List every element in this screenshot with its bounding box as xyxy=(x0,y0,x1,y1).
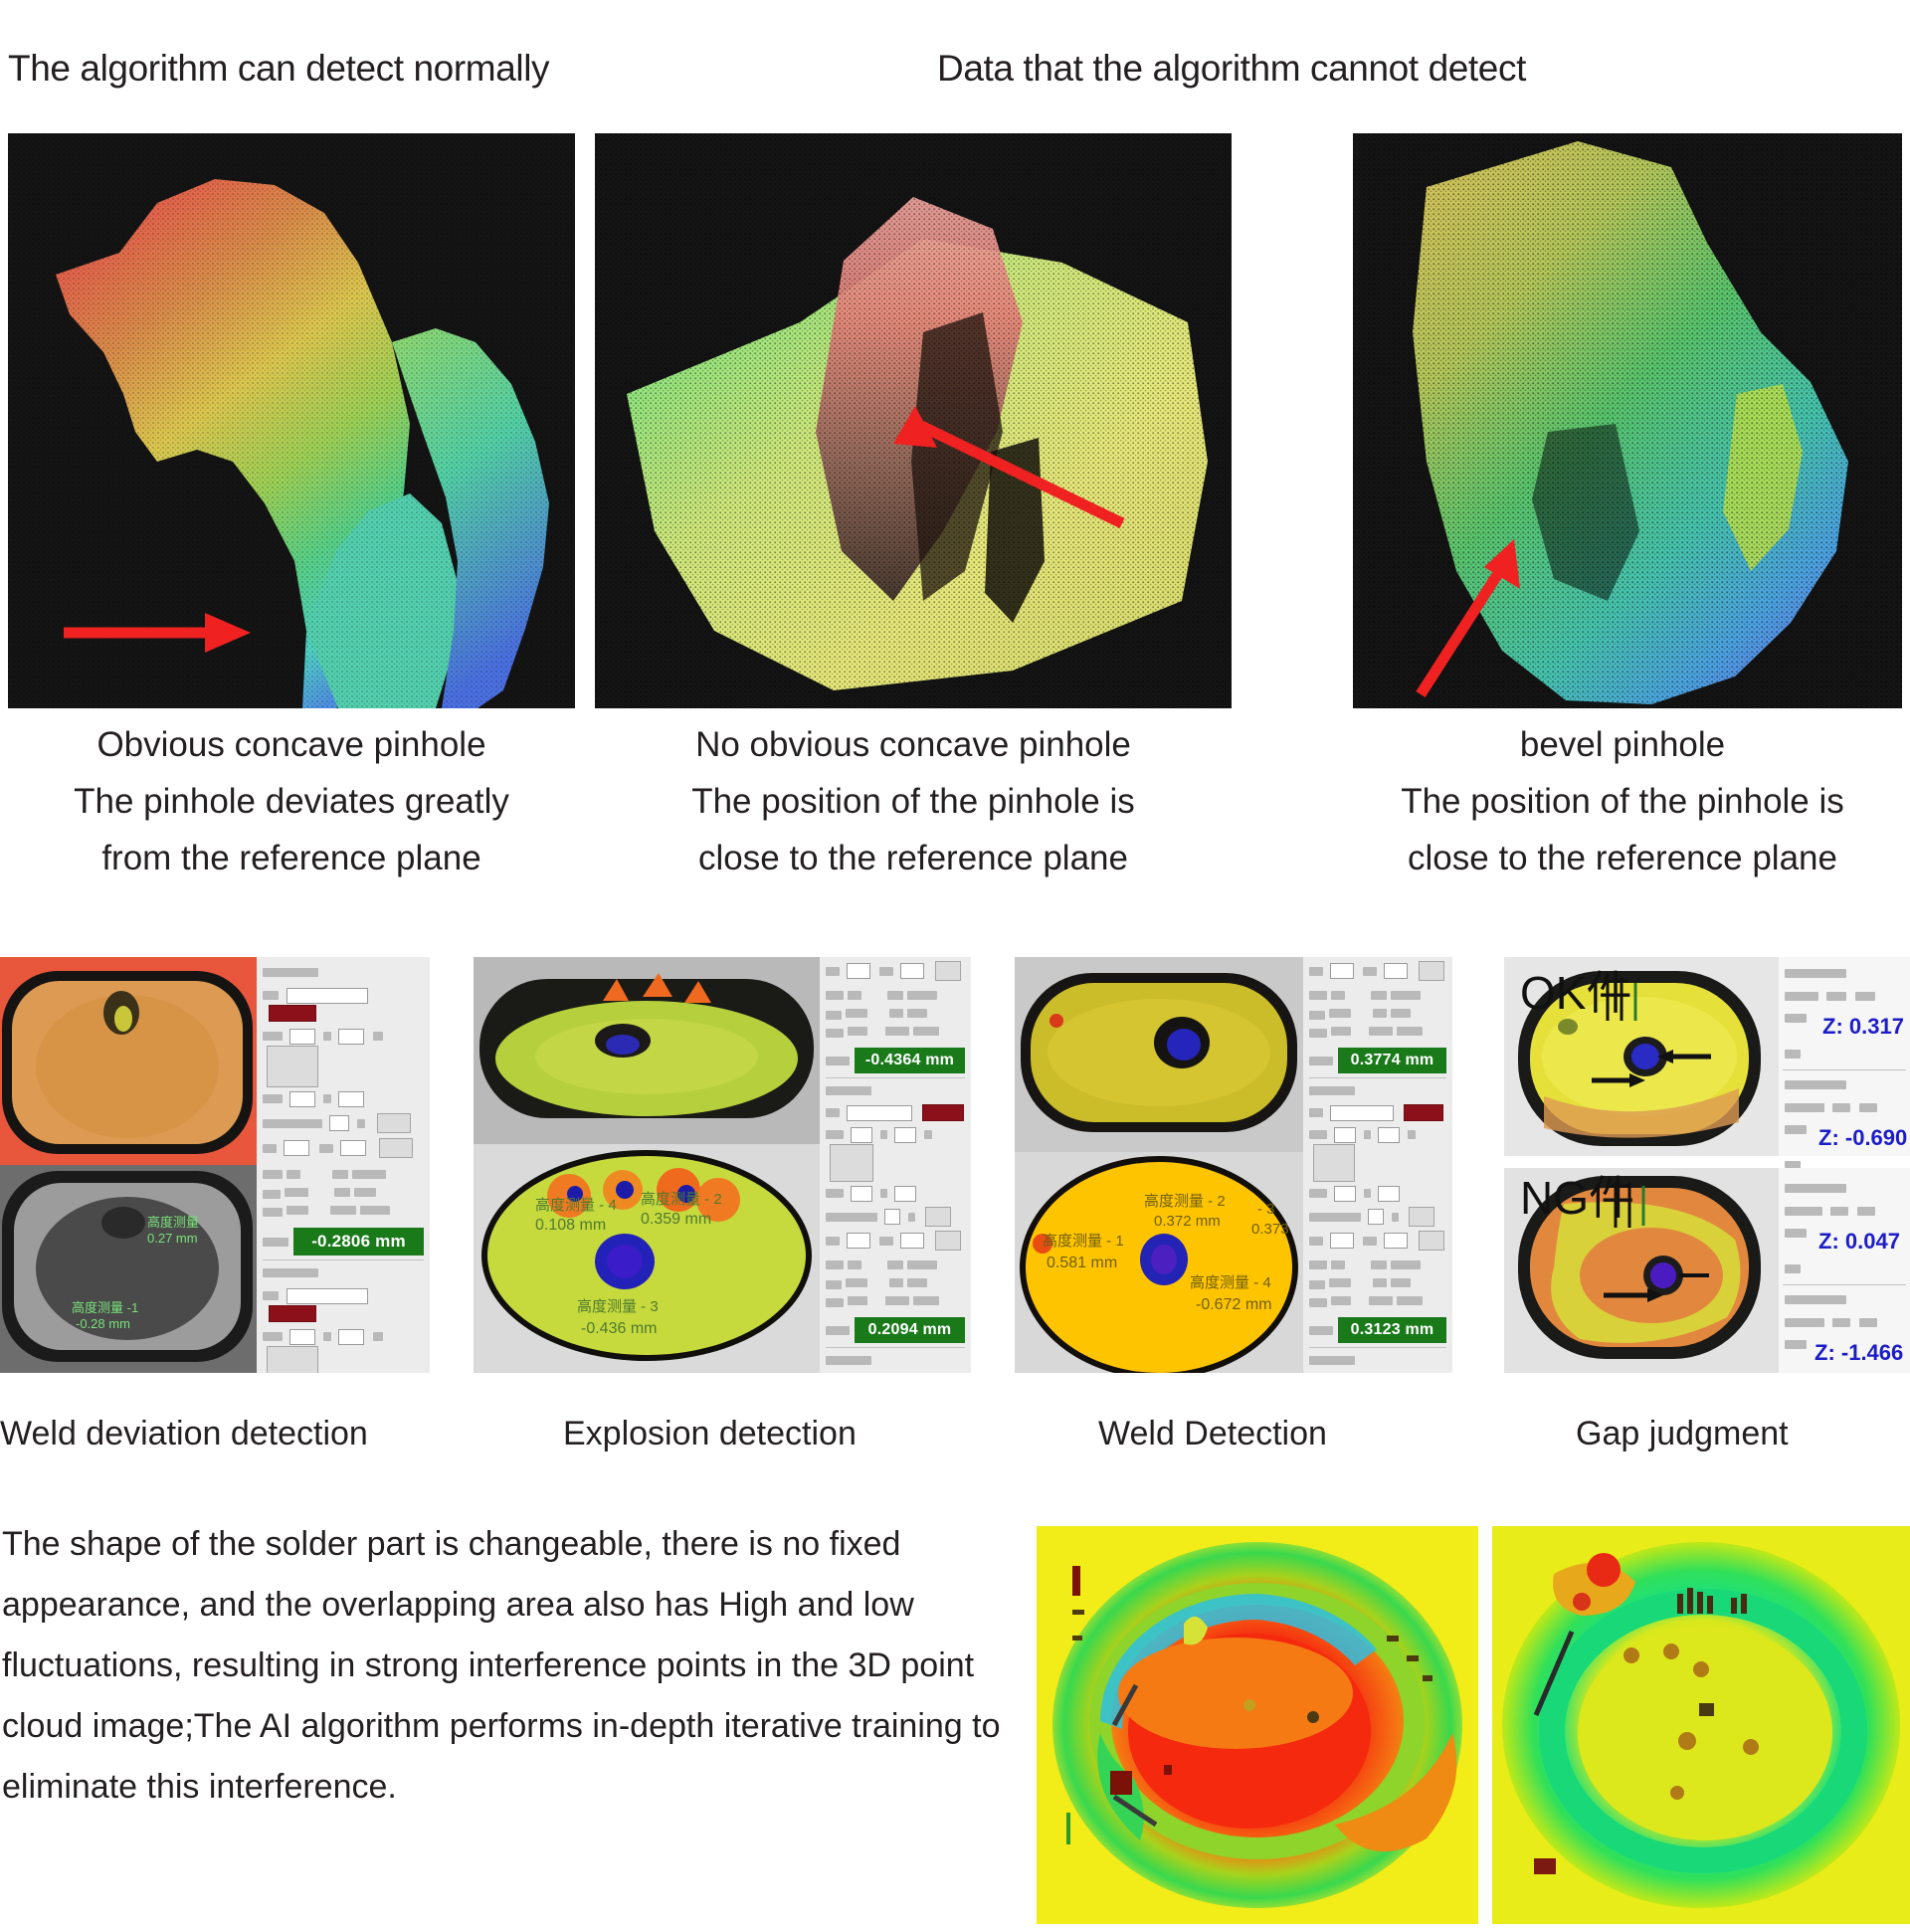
measurement-readout: -0.4364 mm xyxy=(855,1048,965,1073)
ui-stats-block xyxy=(1309,987,1446,1041)
ui-coord-row-1 xyxy=(263,1028,424,1087)
measurement-readout: -0.2806 mm xyxy=(293,1228,424,1256)
ui-percent-row xyxy=(1309,1207,1446,1227)
header-left: The algorithm can detect normally xyxy=(8,48,549,90)
ui-name-field-row xyxy=(1309,1104,1446,1122)
y2-input[interactable] xyxy=(1378,1186,1400,1202)
ui-threshold-row xyxy=(826,1231,965,1251)
y1-input[interactable] xyxy=(1378,1127,1400,1143)
pointcloud-no-obvious-concave-pinhole xyxy=(595,133,1232,708)
svg-text:高度测量: 高度测量 xyxy=(147,1215,199,1230)
bottom-cloud-render-1 xyxy=(1037,1526,1478,1924)
caption-line-1: Obvious concave pinhole xyxy=(8,716,575,773)
percent-input[interactable] xyxy=(329,1115,349,1131)
upper-limit-input[interactable] xyxy=(847,963,870,979)
y2-input[interactable] xyxy=(338,1091,364,1107)
x2-input[interactable] xyxy=(289,1091,315,1107)
caption-weld-detection: Weld Detection xyxy=(1098,1415,1327,1453)
apply-button[interactable] xyxy=(379,1138,413,1158)
readout-row-1: -0.4364 mm xyxy=(826,1048,965,1073)
ui-stats-block xyxy=(826,1256,965,1310)
name-input[interactable] xyxy=(286,988,368,1004)
ui-percent-row xyxy=(263,1113,424,1133)
x2-input[interactable] xyxy=(851,1186,872,1202)
measurement-ui-column: -0.4364 mm xyxy=(820,957,971,1373)
caption-line-2: The position of the pinhole is xyxy=(595,773,1232,830)
gap-readout-panel-ok: Z: 0.317 Z: -0.690 xyxy=(1779,957,1910,1156)
readout-row-1: -0.2806 mm xyxy=(263,1228,424,1256)
ui-group-title xyxy=(826,1352,965,1370)
weld-detection-sample-image: 高度测量 - 2 0.372 mm 高度测量 - 1 0.581 mm - 3 … xyxy=(1015,957,1303,1373)
svg-text:高度测量 - 3: 高度测量 - 3 xyxy=(577,1298,659,1315)
ui-stats-block xyxy=(263,1166,424,1220)
ui-stats-block xyxy=(826,987,965,1041)
svg-text:高度测量 - 4: 高度测量 - 4 xyxy=(1190,1274,1271,1291)
caption-line-2: The position of the pinhole is xyxy=(1341,773,1904,830)
gap-verdict-label-ng: NG件 xyxy=(1520,1162,1634,1228)
edit-region-button[interactable] xyxy=(267,1046,318,1087)
ui-threshold-row xyxy=(263,1138,424,1158)
edit-region-button[interactable] xyxy=(267,1346,318,1373)
caption-pointcloud-3: bevel pinhole The position of the pinhol… xyxy=(1341,716,1904,886)
weld-deviation-sample-image: 高度测量 0.27 mm 高度测量 -1 -0.28 mm xyxy=(0,957,257,1373)
caption-pointcloud-2: No obvious concave pinhole The position … xyxy=(595,716,1232,886)
svg-text:高度测量 - 2: 高度测量 - 2 xyxy=(1144,1193,1226,1210)
readout-row-1: 0.3774 mm xyxy=(1309,1048,1446,1073)
ui-threshold-row xyxy=(1309,961,1446,981)
gap-readout-panel-ng: Z: 0.047 Z: -1.466 xyxy=(1779,1168,1910,1373)
svg-text:高度测量 - 1: 高度测量 - 1 xyxy=(1043,1233,1124,1250)
x2-input[interactable] xyxy=(1334,1186,1356,1202)
bottom-cloud-render-2 xyxy=(1492,1526,1910,1924)
ui-group-title xyxy=(263,1264,424,1282)
svg-text:高度测量 - 2: 高度测量 - 2 xyxy=(641,1191,722,1208)
measurement-readout: 0.2094 mm xyxy=(855,1317,965,1343)
ui-coord-row-2 xyxy=(826,1185,965,1203)
upper-limit-input[interactable] xyxy=(284,1140,309,1156)
caption-line-3: close to the reference plane xyxy=(595,830,1232,886)
percent-input[interactable] xyxy=(884,1209,900,1225)
panel-image-column: 高度测量 0.27 mm 高度测量 -1 -0.28 mm xyxy=(0,957,257,1373)
ui-percent-row xyxy=(826,1207,965,1227)
ui-name-field-row xyxy=(826,1104,965,1122)
readout-row-2: 0.2094 mm xyxy=(826,1317,965,1343)
readout-row-2: 0.3123 mm xyxy=(1309,1317,1446,1343)
upper-limit-input[interactable] xyxy=(1330,963,1354,979)
z-value-bottom-ok: Z: -0.690 xyxy=(1818,1125,1910,1151)
apply-button[interactable] xyxy=(935,961,961,981)
y1-input[interactable] xyxy=(338,1329,364,1345)
slide-root: The algorithm can detect normally Data t… xyxy=(0,0,1910,1932)
panel-image-column: 高度测量 - 2 0.372 mm 高度测量 - 1 0.581 mm - 3 … xyxy=(1015,957,1303,1373)
measurement-readout: 0.3774 mm xyxy=(1338,1048,1446,1073)
bottom-cloud-yellow-center xyxy=(1492,1526,1910,1924)
ui-group-title xyxy=(1309,1082,1446,1100)
name-input[interactable] xyxy=(1330,1105,1394,1121)
measurement-readout: 0.3123 mm xyxy=(1338,1317,1446,1343)
x1-input[interactable] xyxy=(851,1127,872,1143)
ui-coord-row-1 xyxy=(263,1328,424,1373)
header-right: Data that the algorithm cannot detect xyxy=(937,48,1526,90)
add-button[interactable] xyxy=(925,1207,951,1227)
svg-text:- 3: - 3 xyxy=(1257,1201,1275,1218)
lower-limit-input[interactable] xyxy=(900,963,924,979)
add-button[interactable] xyxy=(1409,1207,1434,1227)
y1-input[interactable] xyxy=(894,1127,916,1143)
measurement-ui-column: 0.3774 mm xyxy=(1303,957,1452,1373)
y2-input[interactable] xyxy=(894,1186,916,1202)
z-value-bottom-ng: Z: -1.466 xyxy=(1814,1340,1910,1366)
svg-text:0.372 mm: 0.372 mm xyxy=(1154,1213,1221,1230)
caption-line-1: No obvious concave pinhole xyxy=(595,716,1232,773)
panel-weld-deviation-detection: 高度测量 0.27 mm 高度测量 -1 -0.28 mm xyxy=(0,957,430,1373)
svg-text:高度测量 -1: 高度测量 -1 xyxy=(72,1300,138,1315)
svg-text:0.359 mm: 0.359 mm xyxy=(641,1211,711,1228)
pointcloud-obvious-concave-pinhole xyxy=(8,133,575,708)
delete-button[interactable] xyxy=(1404,1104,1443,1121)
summary-paragraph: The shape of the solder part is changeab… xyxy=(2,1514,1017,1818)
caption-pointcloud-1: Obvious concave pinhole The pinhole devi… xyxy=(8,716,575,886)
lower-limit-input[interactable] xyxy=(1384,1233,1408,1249)
z-value-top-ok: Z: 0.317 xyxy=(1822,1014,1910,1040)
ui-group-title xyxy=(826,1082,965,1100)
upper-limit-input[interactable] xyxy=(847,1233,870,1249)
ui-name-field-row xyxy=(263,987,424,1023)
x1-input[interactable] xyxy=(289,1329,315,1345)
gap-verdict-label-ok: OK件 xyxy=(1520,957,1631,1023)
explosion-sample-image: 高度测量 - 4 0.108 mm 高度测量 - 2 0.359 mm 高度测量… xyxy=(474,957,820,1373)
apply-button[interactable] xyxy=(1419,1231,1444,1251)
add-button[interactable] xyxy=(377,1113,411,1133)
ui-group-title xyxy=(1309,1352,1446,1370)
caption-gap-judgment: Gap judgment xyxy=(1576,1415,1789,1453)
ui-coord-row-1 xyxy=(1309,1126,1446,1182)
delete-button[interactable] xyxy=(269,1305,316,1322)
name-input[interactable] xyxy=(286,1288,368,1304)
x1-input[interactable] xyxy=(289,1029,315,1045)
x1-input[interactable] xyxy=(1334,1127,1356,1143)
red-arrow-icon-3 xyxy=(1397,533,1546,702)
ui-group-title xyxy=(263,964,424,982)
panel-weld-detection: 高度测量 - 2 0.372 mm 高度测量 - 1 0.581 mm - 3 … xyxy=(1015,957,1452,1373)
edit-region-button[interactable] xyxy=(1313,1144,1355,1182)
panel-explosion-detection: 高度测量 - 4 0.108 mm 高度测量 - 2 0.359 mm 高度测量… xyxy=(474,957,971,1373)
red-arrow-icon-1 xyxy=(60,603,259,663)
panel-image-column: 高度测量 - 4 0.108 mm 高度测量 - 2 0.359 mm 高度测量… xyxy=(474,957,820,1373)
caption-line-2: The pinhole deviates greatly xyxy=(8,773,575,830)
caption-line-3: from the reference plane xyxy=(8,830,575,886)
ui-coord-row-2 xyxy=(1309,1185,1446,1203)
svg-text:0.27 mm: 0.27 mm xyxy=(147,1231,198,1246)
svg-text:-0.28 mm: -0.28 mm xyxy=(76,1316,130,1331)
ui-threshold-row xyxy=(826,961,965,981)
edit-region-button[interactable] xyxy=(830,1144,873,1182)
delete-button[interactable] xyxy=(922,1104,964,1121)
svg-text:0.108 mm: 0.108 mm xyxy=(535,1217,606,1234)
lower-limit-input[interactable] xyxy=(340,1140,366,1156)
upper-limit-input[interactable] xyxy=(1330,1233,1354,1249)
svg-text:-0.436 mm: -0.436 mm xyxy=(581,1320,657,1337)
caption-weld-deviation-detection: Weld deviation detection xyxy=(0,1415,368,1453)
pointcloud-bevel-pinhole xyxy=(1353,133,1902,708)
y1-input[interactable] xyxy=(338,1029,364,1045)
svg-text:0.581 mm: 0.581 mm xyxy=(1047,1255,1117,1271)
svg-text:-0.672 mm: -0.672 mm xyxy=(1196,1296,1271,1313)
apply-button[interactable] xyxy=(935,1231,961,1251)
bottom-cloud-red-center xyxy=(1037,1526,1478,1924)
red-arrow-icon-2 xyxy=(854,404,1132,533)
lower-limit-input[interactable] xyxy=(900,1233,924,1249)
caption-line-3: close to the reference plane xyxy=(1341,830,1904,886)
ui-threshold-row xyxy=(1309,1231,1446,1251)
panel-gap-judgment: OK件 Z: 0.317 xyxy=(1504,957,1910,1373)
caption-line-1: bevel pinhole xyxy=(1341,716,1904,773)
ui-stats-block xyxy=(1309,1256,1446,1310)
caption-explosion-detection: Explosion detection xyxy=(563,1415,857,1453)
measurement-ui-column: -0.2806 mm xyxy=(257,957,430,1373)
ui-coord-row-2 xyxy=(263,1090,424,1108)
svg-text:0.373: 0.373 xyxy=(1251,1221,1289,1238)
svg-text:高度测量 - 4: 高度测量 - 4 xyxy=(535,1197,617,1214)
delete-button[interactable] xyxy=(269,1005,316,1022)
apply-button[interactable] xyxy=(1419,961,1444,981)
ui-name-field-row xyxy=(263,1287,424,1323)
name-input[interactable] xyxy=(847,1105,912,1121)
lower-limit-input[interactable] xyxy=(1384,963,1408,979)
ui-coord-row-1 xyxy=(826,1126,965,1182)
z-value-top-ng: Z: 0.047 xyxy=(1818,1229,1910,1255)
percent-input[interactable] xyxy=(1368,1209,1384,1225)
